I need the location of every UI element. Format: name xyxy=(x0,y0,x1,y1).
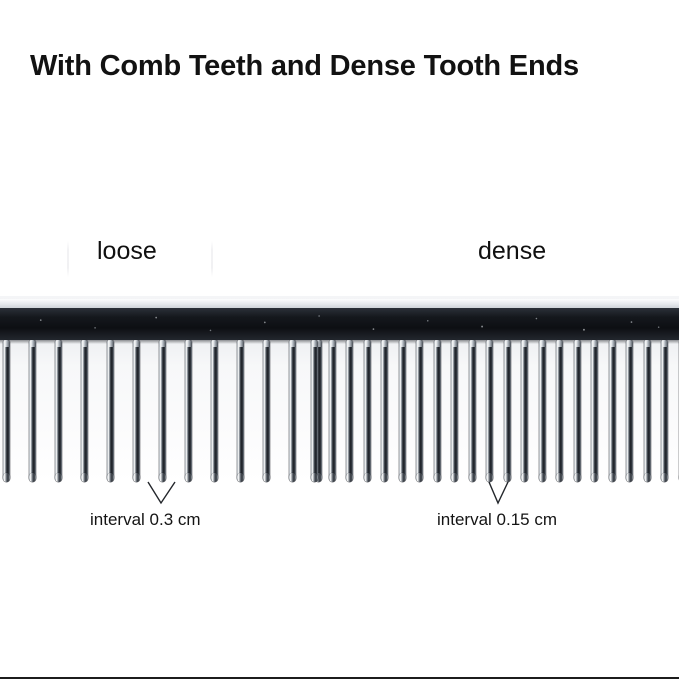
comb-photo xyxy=(0,296,679,496)
comb-tooth-neck xyxy=(3,340,10,347)
comb-tooth-neck xyxy=(133,340,140,347)
comb-tooth-neck xyxy=(556,340,563,347)
comb-tooth xyxy=(133,340,140,482)
comb-tooth-neck xyxy=(399,340,406,347)
product-infographic: With Comb Teeth and Dense Tooth Ends loo… xyxy=(0,0,679,679)
comb-tooth-tip xyxy=(289,473,296,482)
comb-tooth-tip xyxy=(399,473,406,482)
comb-tooth-tip xyxy=(574,473,581,482)
comb-tooth xyxy=(346,340,353,482)
comb-tooth-neck xyxy=(416,340,423,347)
comb-tooth-neck xyxy=(237,340,244,347)
comb-tooth-neck xyxy=(381,340,388,347)
comb-tooth xyxy=(434,340,441,482)
comb-tooth-neck xyxy=(574,340,581,347)
comb-tooth-tip xyxy=(591,473,598,482)
comb-tooth xyxy=(539,340,546,482)
comb-tooth-neck xyxy=(346,340,353,347)
comb-tooth xyxy=(486,340,493,482)
comb-tooth-neck xyxy=(107,340,114,347)
comb-tooth xyxy=(81,340,88,482)
comb-tooth xyxy=(55,340,62,482)
comb-tooth-neck xyxy=(661,340,668,347)
interval-caption-dense: interval 0.15 cm xyxy=(437,510,557,530)
comb-tooth-tip xyxy=(185,473,192,482)
comb-tooth-neck xyxy=(29,340,36,347)
comb-tooth-tip xyxy=(539,473,546,482)
comb-tooth-tip xyxy=(626,473,633,482)
comb-tooth-neck xyxy=(311,340,318,347)
comb-tooth-tip xyxy=(644,473,651,482)
comb-tooth xyxy=(469,340,476,482)
comb-tooth xyxy=(289,340,296,482)
comb-tooth xyxy=(211,340,218,482)
comb-tooth xyxy=(3,340,10,482)
comb-tooth-neck xyxy=(185,340,192,347)
interval-caption-loose: interval 0.3 cm xyxy=(90,510,201,530)
comb-tooth-neck xyxy=(434,340,441,347)
comb-tooth-neck xyxy=(159,340,166,347)
comb-tooth-tip xyxy=(3,473,10,482)
comb-tooth-tip xyxy=(346,473,353,482)
comb-tooth-tip xyxy=(416,473,423,482)
comb-tooth-tip xyxy=(381,473,388,482)
comb-tooth-tip xyxy=(504,473,511,482)
comb-tooth xyxy=(29,340,36,482)
comb-tooth xyxy=(521,340,528,482)
comb-tooth-neck xyxy=(591,340,598,347)
comb-tooth-neck xyxy=(451,340,458,347)
comb-tooth-neck xyxy=(55,340,62,347)
comb-tooth-neck xyxy=(211,340,218,347)
comb-tooth-neck xyxy=(521,340,528,347)
comb-tooth-tip xyxy=(55,473,62,482)
comb-tooth-tip xyxy=(661,473,668,482)
comb-tooth-neck xyxy=(329,340,336,347)
comb-tooth xyxy=(329,340,336,482)
comb-tooth xyxy=(451,340,458,482)
comb-tooth-tip xyxy=(133,473,140,482)
comb-tooth-tip xyxy=(434,473,441,482)
comb-tooth xyxy=(237,340,244,482)
comb-tooth xyxy=(644,340,651,482)
comb-tooth-tip xyxy=(211,473,218,482)
comb-tooth xyxy=(263,340,270,482)
comb-tooth-neck xyxy=(626,340,633,347)
comb-tooth xyxy=(661,340,668,482)
page-title: With Comb Teeth and Dense Tooth Ends xyxy=(30,50,660,83)
comb-tooth xyxy=(185,340,192,482)
comb-tooth-tip xyxy=(311,473,318,482)
comb-tooth xyxy=(381,340,388,482)
comb-tooth-tip xyxy=(556,473,563,482)
comb-tooth-neck xyxy=(81,340,88,347)
comb-tooth-tip xyxy=(263,473,270,482)
comb-tooth xyxy=(399,340,406,482)
comb-tooth-tip xyxy=(107,473,114,482)
comb-tooth-neck xyxy=(539,340,546,347)
comb-tooth-neck xyxy=(486,340,493,347)
zone-divider-left xyxy=(67,241,69,277)
comb-tooth-neck xyxy=(469,340,476,347)
comb-tooth-neck xyxy=(609,340,616,347)
comb-tooth-neck xyxy=(364,340,371,347)
comb-tooth xyxy=(364,340,371,482)
comb-tooth xyxy=(416,340,423,482)
comb-tooth-tip xyxy=(329,473,336,482)
comb-spine-texture xyxy=(0,308,679,340)
comb-tooth xyxy=(504,340,511,482)
comb-tooth-tip xyxy=(237,473,244,482)
comb-tooth xyxy=(591,340,598,482)
comb-tooth-tip xyxy=(159,473,166,482)
comb-tooth-tip xyxy=(609,473,616,482)
comb-tooth-neck xyxy=(504,340,511,347)
zone-divider-right xyxy=(211,241,213,277)
comb-tooth-tip xyxy=(451,473,458,482)
zone-label-dense: dense xyxy=(478,237,546,266)
comb-tooth xyxy=(107,340,114,482)
comb-tooth xyxy=(609,340,616,482)
comb-tooth xyxy=(159,340,166,482)
comb-tooth-tip xyxy=(486,473,493,482)
zone-label-loose: loose xyxy=(97,237,157,266)
comb-tooth-neck xyxy=(263,340,270,347)
comb-tooth-neck xyxy=(289,340,296,347)
comb-tooth xyxy=(626,340,633,482)
comb-tooth xyxy=(556,340,563,482)
comb-tooth-tip xyxy=(81,473,88,482)
comb-tooth xyxy=(574,340,581,482)
comb-tooth-tip xyxy=(521,473,528,482)
comb-tooth-neck xyxy=(644,340,651,347)
comb-tooth-tip xyxy=(29,473,36,482)
comb-tooth xyxy=(311,340,318,482)
comb-tooth-tip xyxy=(364,473,371,482)
comb-tooth-tip xyxy=(469,473,476,482)
